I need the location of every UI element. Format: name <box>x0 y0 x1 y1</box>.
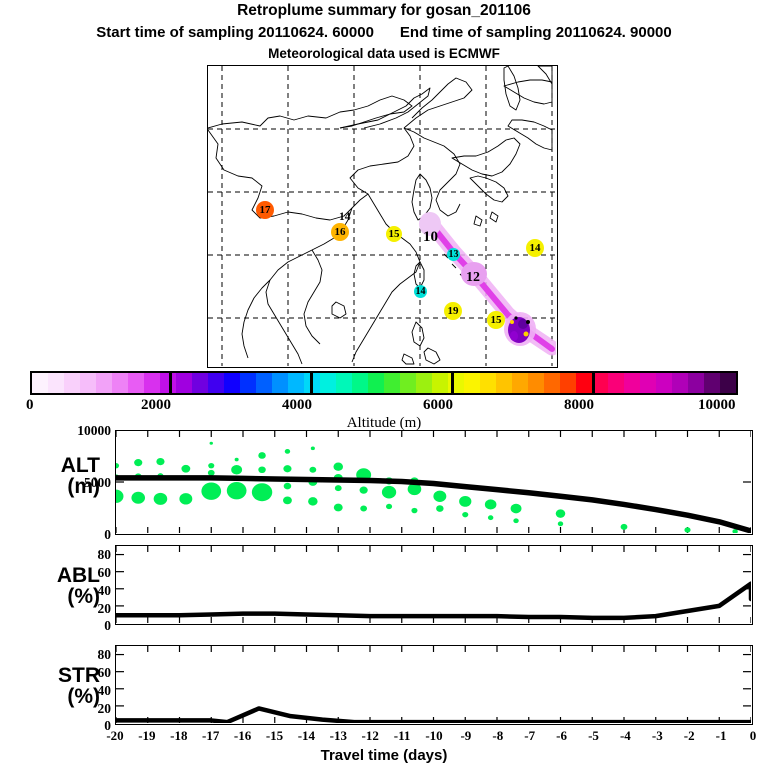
colorbar-segment <box>672 373 688 393</box>
colorbar-divider <box>169 371 172 395</box>
alt-bubble <box>485 499 497 509</box>
map-marker[interactable]: 19 <box>444 302 462 320</box>
colorbar-segment <box>704 373 720 393</box>
alt-bubble <box>181 465 190 473</box>
alt-bubble <box>231 465 242 475</box>
xaxis-tick: -3 <box>641 728 673 744</box>
map-marker-text: 14 <box>339 211 351 223</box>
abl-ytick: 80 <box>45 547 111 563</box>
xaxis-tick: -1 <box>705 728 737 744</box>
alt-bubble <box>285 449 290 454</box>
colorbar-segment <box>272 373 288 393</box>
colorbar-segment <box>32 373 48 393</box>
alt-bubble <box>201 482 221 499</box>
end-time-label: End time of sampling 20110624. 90000 <box>400 24 672 41</box>
colorbar-segment <box>208 373 224 393</box>
alt-bubble <box>311 447 315 451</box>
page-title: Retroplume summary for gosan_201106 <box>0 2 768 20</box>
colorbar-tick: 2000 <box>141 397 171 414</box>
colorbar-segment <box>128 373 144 393</box>
abl-ytick: 60 <box>45 565 111 581</box>
colorbar-segment <box>224 373 240 393</box>
str-plot <box>116 646 751 723</box>
alt-bubble <box>621 524 628 530</box>
map-marker-label: 15 <box>389 229 400 240</box>
colorbar-segment <box>624 373 640 393</box>
colorbar-tick: 10000 <box>698 397 736 414</box>
alt-bubble <box>558 521 563 526</box>
colorbar[interactable] <box>30 371 738 395</box>
colorbar-tick: 0 <box>26 397 34 414</box>
colorbar-segment <box>576 373 592 393</box>
colorbar-segment <box>80 373 96 393</box>
map-marker-label: 14 <box>530 243 541 254</box>
colorbar-segment <box>496 373 512 393</box>
xaxis-tick: -17 <box>195 728 227 744</box>
alt-panel[interactable] <box>115 430 753 535</box>
colorbar-section: 0 2000 4000 6000 8000 10000 Altitude (m) <box>30 371 738 395</box>
colorbar-segment <box>720 373 736 393</box>
alt-bubble <box>284 483 291 490</box>
alt-bubble <box>227 482 247 499</box>
colorbar-segment <box>96 373 112 393</box>
map-marker[interactable]: 14 <box>414 285 427 298</box>
xaxis-tick: -5 <box>578 728 610 744</box>
xaxis-tick: -13 <box>322 728 354 744</box>
alt-bubble <box>134 459 142 466</box>
map-marker[interactable]: 15 <box>386 226 402 242</box>
alt-bubble <box>208 470 215 476</box>
map-marker[interactable]: 17 <box>256 201 274 219</box>
colorbar-segment <box>320 373 336 393</box>
str-ytick: 40 <box>45 683 111 699</box>
alt-bubble <box>283 496 292 504</box>
map-panel[interactable]: 17 14 16 15 14 13 14 12 10 19 15 <box>207 65 558 368</box>
alt-bubble <box>556 509 566 517</box>
colorbar-divider <box>310 371 313 395</box>
colorbar-tick: 8000 <box>564 397 594 414</box>
alt-ytick: 5000 <box>45 475 111 491</box>
xaxis-tick: -9 <box>450 728 482 744</box>
alt-bubble <box>335 485 342 491</box>
map-marker-label: 15 <box>491 315 502 326</box>
xaxis-tick: -8 <box>482 728 514 744</box>
alt-ytick: 0 <box>45 527 111 543</box>
alt-bubble <box>360 487 368 494</box>
alt-bubble <box>283 465 291 472</box>
xaxis-tick: -7 <box>514 728 546 744</box>
alt-bubble <box>459 496 471 507</box>
alt-bubble <box>411 508 417 513</box>
colorbar-segment <box>512 373 528 393</box>
colorbar-segment <box>464 373 480 393</box>
alt-bubble <box>433 491 446 502</box>
alt-bubble <box>210 442 213 445</box>
xaxis-tick: -15 <box>259 728 291 744</box>
alt-bubble <box>436 505 443 512</box>
alt-bubble <box>333 463 343 471</box>
alt-bubble <box>382 486 396 499</box>
colorbar-segment <box>432 373 448 393</box>
colorbar-segment <box>608 373 624 393</box>
alt-bubble <box>462 512 468 517</box>
str-panel[interactable] <box>115 645 753 725</box>
colorbar-segment <box>656 373 672 393</box>
colorbar-segment <box>560 373 576 393</box>
map-marker-label: 16 <box>335 227 346 238</box>
map-marker-text: 10 <box>423 229 438 246</box>
xaxis-tick: -16 <box>227 728 259 744</box>
sampling-time-row: Start time of sampling 20110624. 60000En… <box>0 24 768 41</box>
meteorology-label: Meteorological data used is ECMWF <box>0 46 768 61</box>
start-time-label: Start time of sampling 20110624. 60000 <box>96 24 374 41</box>
alt-plot <box>116 431 751 533</box>
abl-ytick: 0 <box>45 618 111 634</box>
receptor-blob <box>504 312 536 346</box>
xaxis-tick: -19 <box>131 728 163 744</box>
xaxis-tick: -14 <box>290 728 322 744</box>
alt-bubble <box>116 463 119 468</box>
colorbar-segment <box>480 373 496 393</box>
alt-bubble <box>252 483 272 501</box>
map-marker-label: 19 <box>448 306 459 317</box>
xaxis-tick: -6 <box>546 728 578 744</box>
alt-bubble <box>488 515 493 520</box>
map-marker-text: 12 <box>466 270 480 286</box>
alt-bubble <box>511 504 522 514</box>
xaxis-tick: -2 <box>673 728 705 744</box>
abl-ytick: 20 <box>45 601 111 617</box>
colorbar-segment <box>640 373 656 393</box>
alt-bubble <box>235 458 239 462</box>
colorbar-tick: 6000 <box>423 397 453 414</box>
alt-bubble <box>116 490 123 503</box>
xaxis-tick: -12 <box>354 728 386 744</box>
colorbar-segment <box>416 373 432 393</box>
xaxis-tick: 0 <box>737 728 768 744</box>
colorbar-segment <box>384 373 400 393</box>
colorbar-segment <box>160 373 176 393</box>
colorbar-segment <box>688 373 704 393</box>
xaxis-tick: -10 <box>418 728 450 744</box>
xaxis-title: Travel time (days) <box>0 747 768 764</box>
alt-bubble <box>154 493 168 505</box>
map-marker[interactable]: 16 <box>331 223 349 241</box>
xaxis-tick: -4 <box>609 728 641 744</box>
colorbar-segment <box>112 373 128 393</box>
str-ytick: 20 <box>45 701 111 717</box>
map-marker-label: 13 <box>449 250 459 260</box>
alt-bubble <box>156 458 164 465</box>
alt-bubble <box>308 497 318 505</box>
xaxis-tick: -18 <box>163 728 195 744</box>
colorbar-segment <box>192 373 208 393</box>
colorbar-tick: 4000 <box>282 397 312 414</box>
map-marker[interactable]: 15 <box>487 311 505 329</box>
alt-bubble <box>513 518 518 523</box>
map-marker-label: 14 <box>416 287 426 297</box>
str-ytick: 60 <box>45 665 111 681</box>
colorbar-segment <box>352 373 368 393</box>
alt-bubble <box>179 493 192 504</box>
str-ytick: 80 <box>45 647 111 663</box>
alt-bubble <box>258 452 265 459</box>
colorbar-divider <box>592 371 595 395</box>
abl-ytick: 40 <box>45 583 111 599</box>
alt-bubble <box>360 506 367 512</box>
colorbar-segment <box>288 373 304 393</box>
alt-bubble <box>131 492 145 504</box>
abl-plot <box>116 546 751 623</box>
colorbar-segment <box>544 373 560 393</box>
abl-line <box>116 584 751 618</box>
map-marker[interactable]: 13 <box>447 248 460 261</box>
map-marker-label: 17 <box>260 205 271 216</box>
alt-bubble <box>208 463 214 468</box>
alt-bubble <box>334 504 343 512</box>
colorbar-segment <box>528 373 544 393</box>
colorbar-divider <box>451 371 454 395</box>
colorbar-segment <box>240 373 256 393</box>
alt-bubble <box>684 527 690 532</box>
colorbar-segment <box>144 373 160 393</box>
alt-bubble <box>309 467 316 473</box>
map-marker[interactable]: 14 <box>526 239 544 257</box>
abl-panel[interactable] <box>115 545 753 625</box>
colorbar-segment <box>176 373 192 393</box>
colorbar-segment <box>64 373 80 393</box>
colorbar-segment <box>336 373 352 393</box>
alt-bubble <box>386 504 392 509</box>
colorbar-segment <box>48 373 64 393</box>
str-line <box>116 708 751 722</box>
alt-bubble <box>258 466 265 473</box>
alt-ytick: 10000 <box>45 423 111 439</box>
colorbar-segment <box>400 373 416 393</box>
xaxis-tick: -20 <box>99 728 131 744</box>
xaxis-tick: -11 <box>386 728 418 744</box>
colorbar-segment <box>256 373 272 393</box>
colorbar-segment <box>368 373 384 393</box>
